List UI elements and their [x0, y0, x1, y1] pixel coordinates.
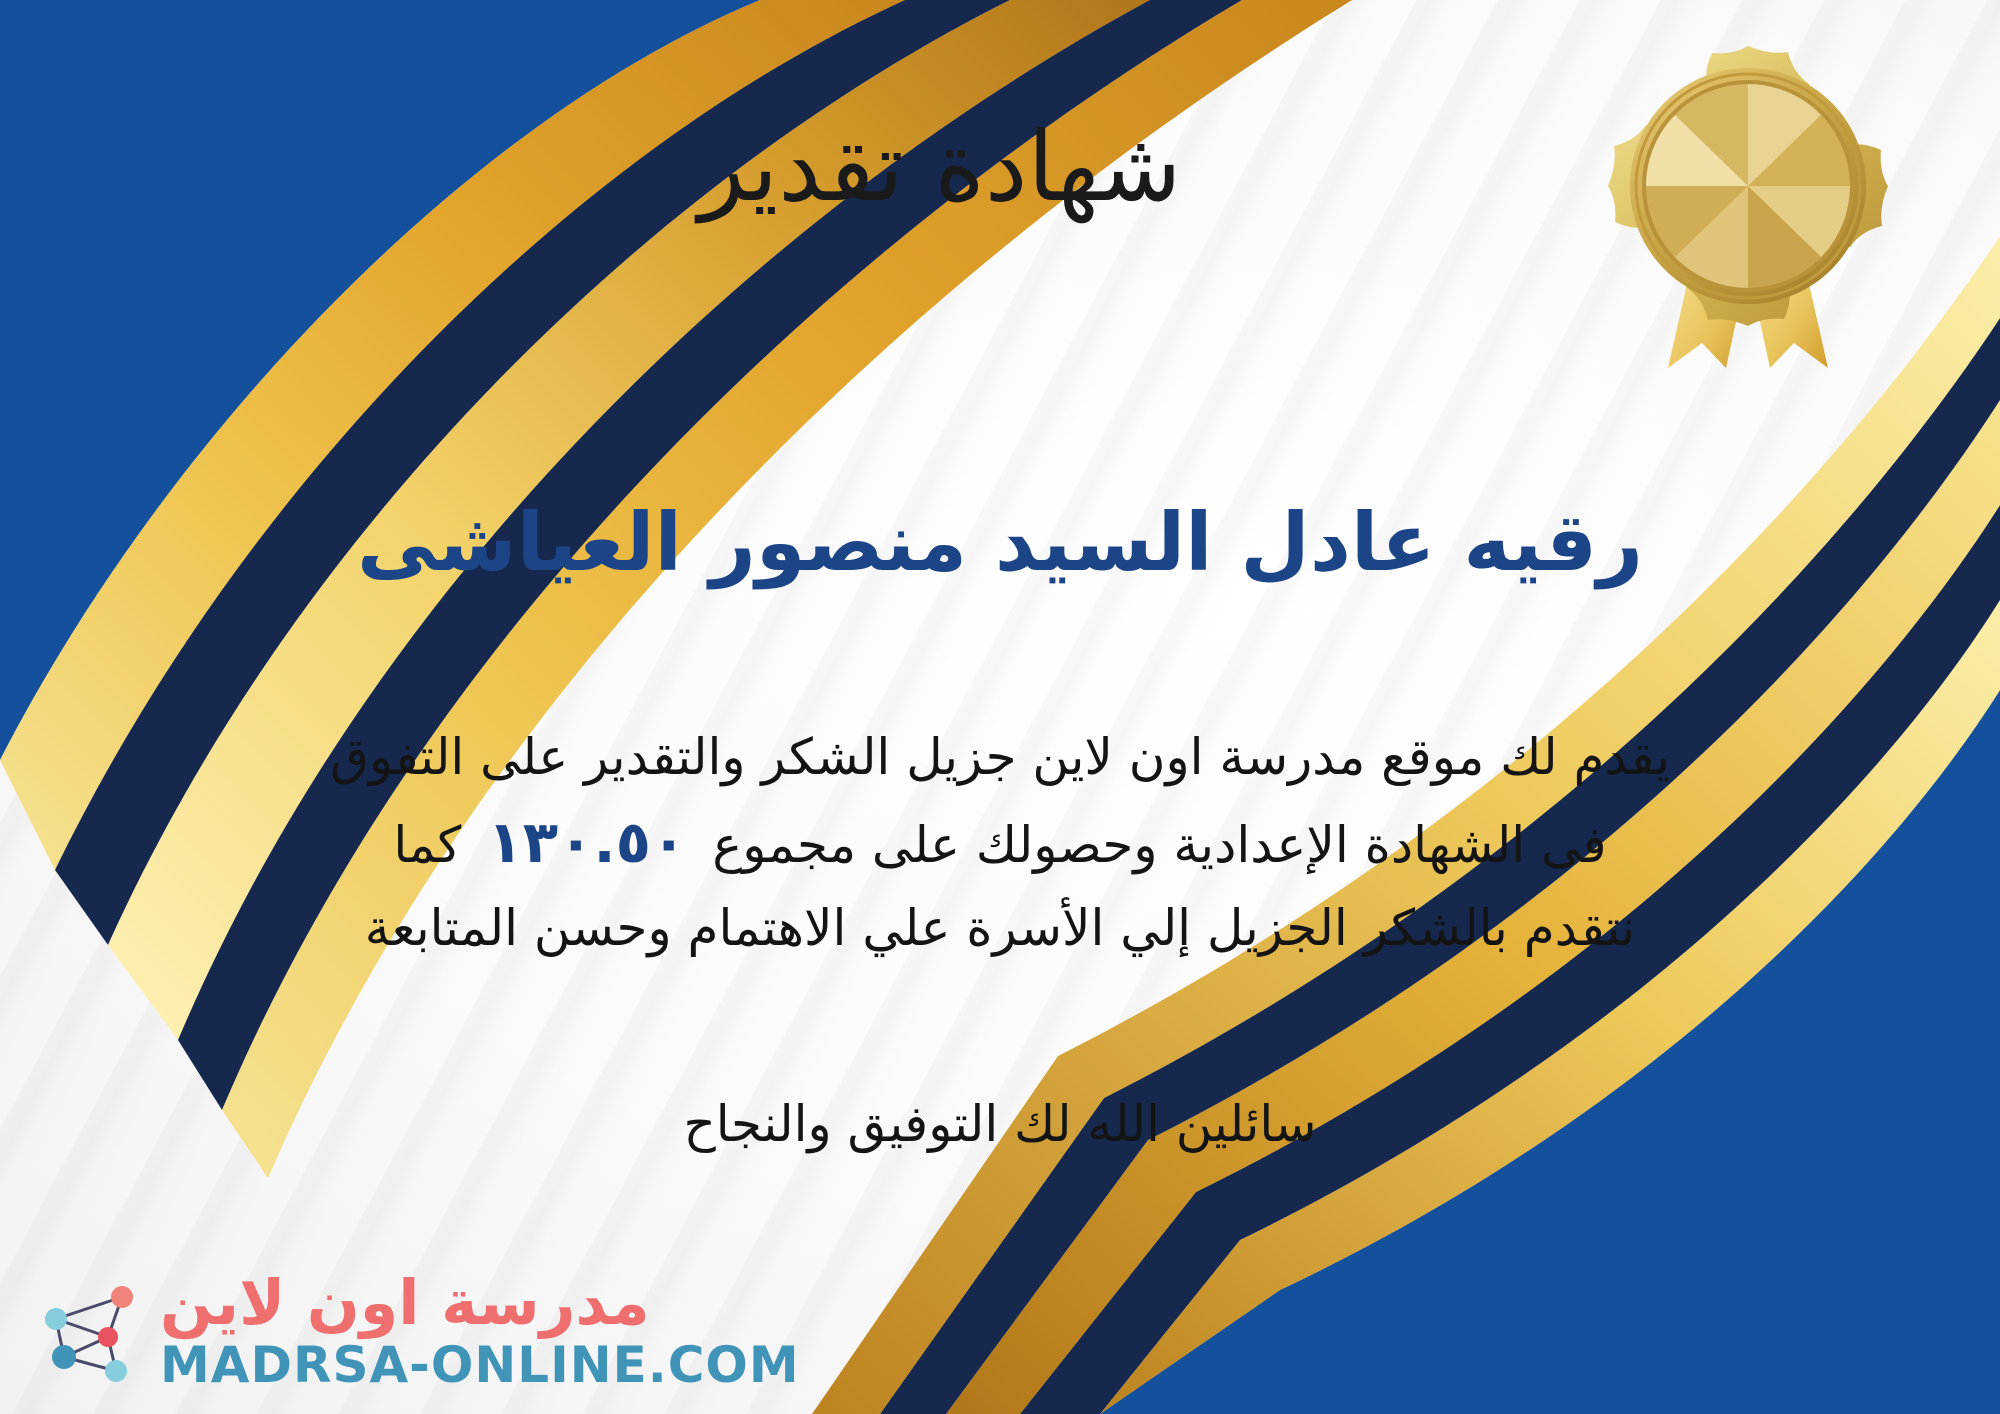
brand-website: MADRSA-ONLINE.COM — [160, 1340, 800, 1390]
body-line-2-prefix: فى الشهادة الإعدادية وحصولك على مجموع — [712, 816, 1606, 874]
certificate-body: يقدم لك موقع مدرسة اون لاين جزيل الشكر و… — [60, 718, 1940, 968]
recipient-name: رقيه عادل السيد منصور العياشى — [0, 495, 2000, 591]
body-line-1: يقدم لك موقع مدرسة اون لاين جزيل الشكر و… — [60, 718, 1940, 797]
brand-arabic-name: مدرسة اون لاين — [160, 1272, 650, 1334]
gold-award-medal-icon — [1598, 38, 1898, 368]
closing-wish-line: سائلين الله لك التوفيق والنجاح — [0, 1095, 2000, 1153]
total-grade-value: ١٣٠.٥٠ — [461, 808, 712, 876]
certificate-page: شهادة تقدير رقيه عادل السيد منصور العياش… — [0, 0, 2000, 1414]
body-line-3: نتقدم بالشكر الجزيل إلي الأسرة علي الاهت… — [60, 889, 1940, 968]
body-line-2: فى الشهادة الإعدادية وحصولك على مجموع١٣٠… — [60, 797, 1940, 889]
brand-logo[interactable]: مدرسة اون لاين MADRSA-ONLINE.COM — [34, 1272, 800, 1390]
brand-text: مدرسة اون لاين MADRSA-ONLINE.COM — [160, 1272, 800, 1390]
body-line-2-suffix: كما — [393, 816, 461, 874]
network-nodes-icon — [34, 1275, 146, 1387]
